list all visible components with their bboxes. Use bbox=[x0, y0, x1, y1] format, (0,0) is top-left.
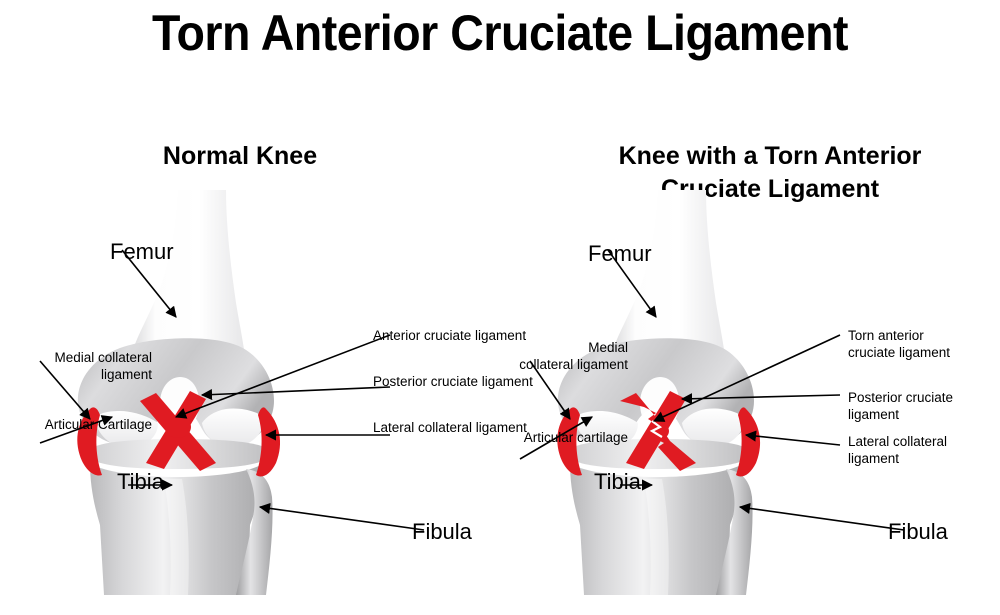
femur-bone bbox=[558, 190, 754, 448]
label-fibula-right: Fibula bbox=[888, 518, 948, 546]
label-tibia-left: Tibia bbox=[117, 468, 164, 496]
leader-fibula bbox=[740, 507, 904, 530]
label-articular-cartilage-right: Articular cartilage bbox=[500, 430, 628, 447]
label-torn-acl-right: Torn anterior cruciate ligament bbox=[848, 328, 950, 362]
label-articular-cartilage-left: Articular Cartilage bbox=[0, 417, 152, 434]
label-pcl-left: Posterior cruciate ligament bbox=[373, 374, 533, 391]
diagram-page: Torn Anterior Cruciate Ligament Normal K… bbox=[0, 0, 1000, 600]
panel-heading-normal-knee: Normal Knee bbox=[75, 140, 405, 173]
label-mcl-left: Medial collateral ligament bbox=[0, 350, 152, 384]
lateral-collateral-ligament bbox=[256, 407, 280, 476]
label-femur-right: Femur bbox=[588, 240, 652, 268]
page-title: Torn Anterior Cruciate Ligament bbox=[35, 4, 965, 62]
label-pcl-right: Posterior cruciate ligament bbox=[848, 390, 1000, 424]
panel-heading-torn-acl-line1: Knee with a Torn Anterior bbox=[575, 140, 965, 173]
lateral-collateral-ligament bbox=[736, 407, 760, 476]
label-fibula-left: Fibula bbox=[412, 518, 472, 546]
label-tibia-right: Tibia bbox=[594, 468, 641, 496]
label-lcl-right: Lateral collateral ligament bbox=[848, 434, 1000, 468]
leader-fibula bbox=[260, 507, 424, 530]
leader-lcl bbox=[746, 435, 840, 445]
label-mcl-right: Medial collateral ligament bbox=[500, 340, 628, 374]
femur-bone bbox=[78, 190, 274, 448]
label-femur-left: Femur bbox=[110, 238, 174, 266]
